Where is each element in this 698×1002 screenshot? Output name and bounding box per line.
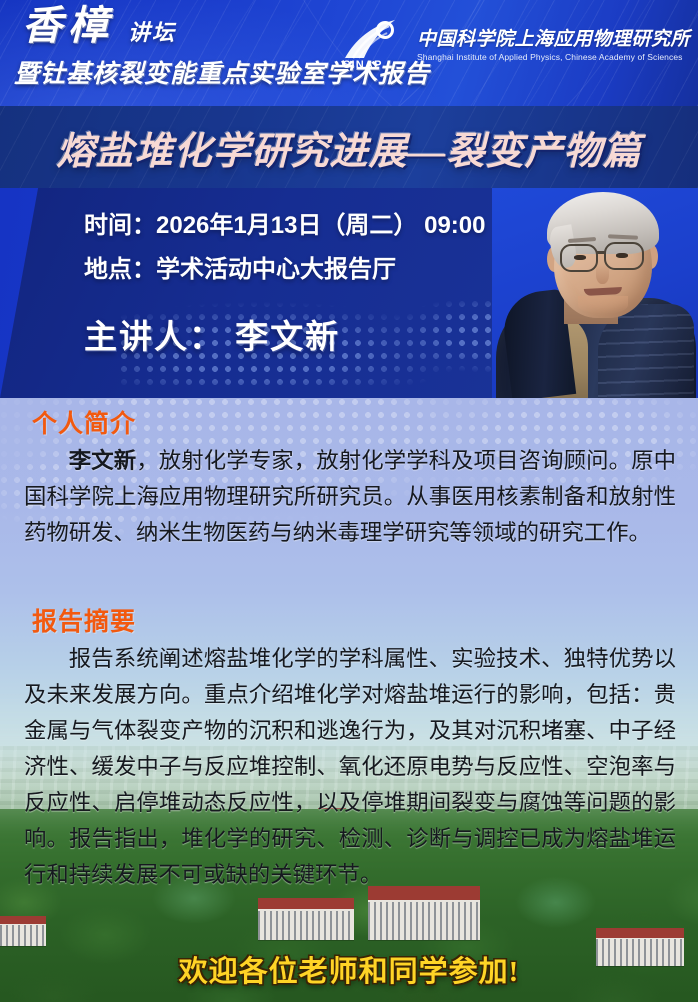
institute-names: 中国科学院上海应用物理研究所 Shanghai Institute of App… — [417, 22, 690, 62]
portrait-nose — [596, 264, 609, 284]
welcome-message: 欢迎各位老师和同学参加! — [0, 948, 698, 990]
sinap-logo-icon: SINAP — [337, 14, 409, 70]
lecture-meta: 时间：2026年1月13日（周二） 09:00 地点：学术活动中心大报告厅 — [84, 214, 485, 302]
portrait-eye-left — [574, 255, 586, 260]
abstract-heading: 报告摘要 — [32, 602, 698, 638]
forum-brand-name: 香樟 — [22, 6, 114, 46]
biography-name: 李文新 — [69, 448, 136, 473]
institute-name-en: Shanghai Institute of Applied Physics, C… — [417, 52, 690, 62]
lecture-poster: 香樟 讲坛 暨钍基核裂变能重点实验室学术报告 SINAP 中国科学院上海应用物理… — [0, 0, 698, 1002]
biography-heading: 个人简介 — [32, 404, 698, 440]
institute-logo-block: SINAP 中国科学院上海应用物理研究所 Shanghai Institute … — [337, 14, 690, 70]
abstract-text: 报告系统阐述熔盐堆化学的学科属性、实验技术、独特优势以及未来发展方向。重点介绍堆… — [24, 641, 676, 893]
aerial-building — [368, 886, 480, 940]
aerial-building — [0, 916, 46, 946]
lecture-title-band: 熔盐堆化学研究进展—裂变产物篇 — [0, 106, 698, 188]
sinap-wordmark: SINAP — [343, 59, 383, 71]
portrait-glasses-bridge — [596, 251, 606, 254]
biography-text: 李文新，放射化学专家，放射化学学科及项目咨询顾问。原中国科学院上海应用物理研究所… — [24, 443, 676, 551]
poster-banner: 香樟 讲坛 暨钍基核裂变能重点实验室学术报告 SINAP 中国科学院上海应用物理… — [0, 0, 698, 106]
lecture-speaker: 主讲人： 李文新 — [84, 310, 340, 358]
portrait-chin — [578, 296, 628, 314]
lecture-time: 时间：2026年1月13日（周二） 09:00 — [84, 214, 485, 238]
page-title: 熔盐堆化学研究进展—裂变产物篇 — [56, 120, 641, 175]
forum-brand-subtitle: 讲坛 — [128, 22, 176, 44]
speaker-portrait — [492, 188, 698, 398]
aerial-building — [258, 898, 354, 940]
institute-name-cn: 中国科学院上海应用物理研究所 — [417, 24, 690, 51]
abstract-section: 报告摘要 报告系统阐述熔盐堆化学的学科属性、实验技术、独特优势以及未来发展方向。… — [0, 602, 698, 893]
portrait-eye-right — [616, 253, 628, 258]
biography-section: 个人简介 李文新，放射化学专家，放射化学学科及项目咨询顾问。原中国科学院上海应用… — [0, 404, 698, 551]
lecture-place: 地点：学术活动中心大报告厅 — [84, 258, 485, 282]
